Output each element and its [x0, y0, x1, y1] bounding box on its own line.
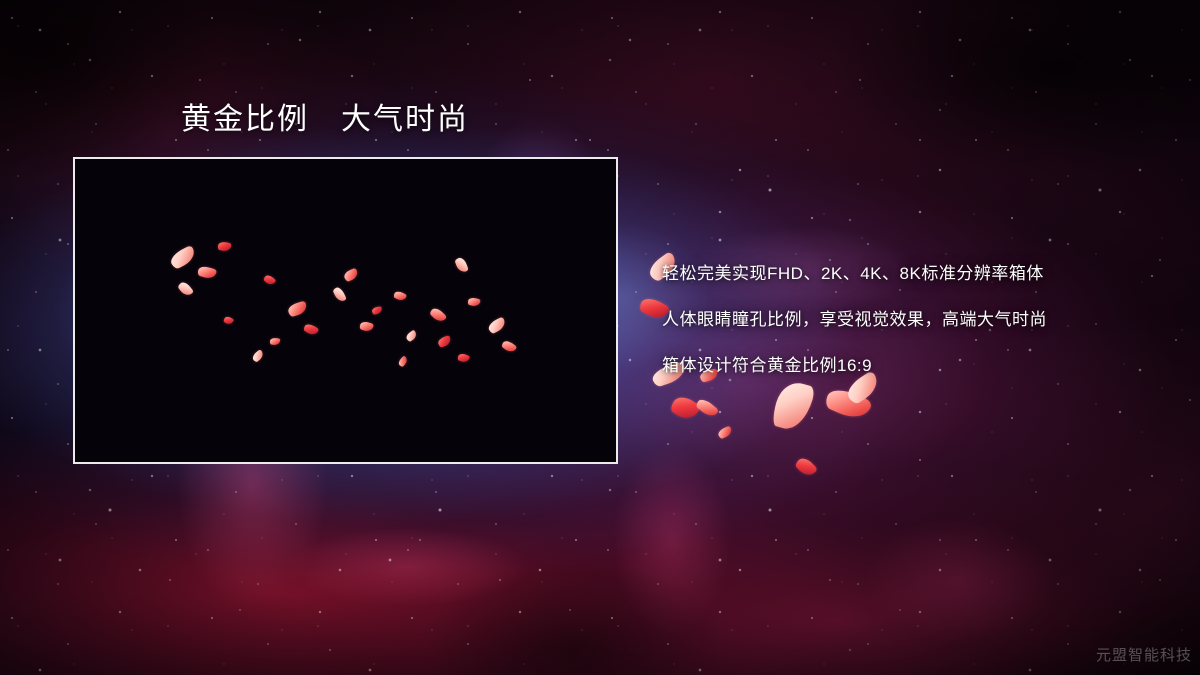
rose-petal	[332, 286, 347, 303]
preview-bg-base	[75, 159, 616, 462]
preview-bg-dust	[75, 159, 616, 462]
rose-petal	[405, 330, 419, 343]
preview-petal-field	[75, 159, 616, 462]
rose-petal	[223, 315, 234, 326]
rose-petal	[467, 297, 481, 308]
preview-stars-a	[75, 159, 616, 462]
preview-bg-wisps	[75, 159, 616, 462]
rose-petal	[343, 268, 360, 283]
preview-frame-16x9	[73, 157, 618, 464]
feature-line-3: 箱体设计符合黄金比例16:9	[662, 351, 1182, 376]
page-title: 黄金比例 大气时尚	[181, 103, 469, 136]
rose-petal	[168, 245, 198, 270]
slide-canvas: 黄金比例 大气时尚 轻松完美实现FHD、2K、4K、8K标准分辨率箱体 人体眼睛…	[0, 0, 1200, 675]
rose-petal	[287, 301, 309, 318]
rose-petal	[303, 322, 320, 337]
rose-petal	[501, 339, 518, 355]
rose-petal	[770, 378, 816, 434]
feature-line-1: 轻松完美实现FHD、2K、4K、8K标准分辨率箱体	[662, 259, 1182, 284]
rose-petal	[263, 273, 277, 286]
rose-petal	[371, 306, 382, 315]
rose-petal	[717, 426, 733, 440]
rose-petal	[429, 306, 447, 324]
rose-petal	[217, 241, 232, 253]
rose-petal	[457, 352, 470, 364]
rose-petal	[251, 349, 265, 363]
rose-petal	[393, 290, 407, 302]
rose-petal	[669, 393, 702, 424]
rose-petal	[177, 280, 194, 298]
feature-description: 轻松完美实现FHD、2K、4K、8K标准分辨率箱体 人体眼睛瞳孔比例，享受视觉效…	[662, 259, 1182, 376]
rose-petal	[454, 256, 469, 274]
rose-petal	[197, 264, 218, 280]
rose-petal	[486, 316, 507, 334]
rose-petal	[437, 335, 452, 348]
rose-petal	[695, 396, 720, 419]
watermark-label: 元盟智能科技	[1096, 644, 1192, 665]
rose-petal	[359, 320, 374, 333]
feature-line-2: 人体眼睛瞳孔比例，享受视觉效果，高端大气时尚	[662, 305, 1182, 330]
rose-petal	[397, 355, 409, 367]
rose-petal	[794, 455, 818, 479]
preview-stars-d	[75, 159, 616, 462]
rose-petal	[823, 384, 873, 424]
preview-stars-b	[75, 159, 616, 462]
preview-image	[75, 159, 616, 462]
preview-stars-c	[75, 159, 616, 462]
preview-scene-content	[75, 159, 616, 462]
rose-petal	[270, 337, 281, 345]
